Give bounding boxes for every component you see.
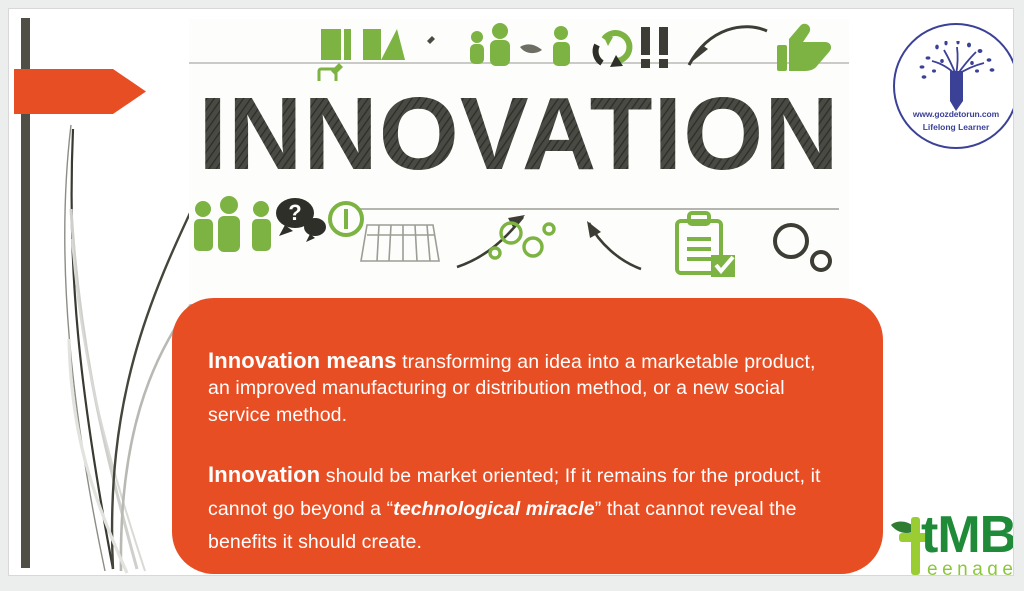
illustration-icons-bottom: ?: [189, 191, 849, 301]
paragraph-market-oriented: Innovation should be market oriented; If…: [208, 458, 837, 559]
pencil-burst-icon: [914, 41, 998, 115]
illustration-icons-top: [189, 19, 849, 81]
brand-logo-tagline: Lifelong Learner: [895, 122, 1014, 132]
paragraph-definition: Innovation means transforming an idea in…: [208, 348, 837, 429]
brand-logo: www.gozdetorun.com Lifelong Learner: [893, 23, 1014, 149]
headline-innovation: INNOVATION: [189, 81, 849, 191]
innovation-text-card: Innovation means transforming an idea in…: [172, 298, 883, 574]
paragraph2-lead: Innovation: [208, 462, 320, 487]
slide-frame: INNOVATION ?: [8, 8, 1014, 576]
teenager-mba-logo: tMBA eenager: [887, 507, 1014, 576]
svg-text:?: ?: [288, 200, 301, 225]
paragraph2-emphasis: technological miracle: [393, 498, 595, 520]
mba-sub-wordmark: eenager: [927, 559, 1014, 576]
mba-wordmark: tMBA: [921, 509, 1014, 561]
innovation-illustration: INNOVATION ?: [189, 19, 849, 304]
brand-logo-url: www.gozdetorun.com: [895, 109, 1014, 119]
svg-text:INNOVATION: INNOVATION: [198, 81, 839, 191]
paragraph1-lead: Innovation means: [208, 348, 397, 373]
